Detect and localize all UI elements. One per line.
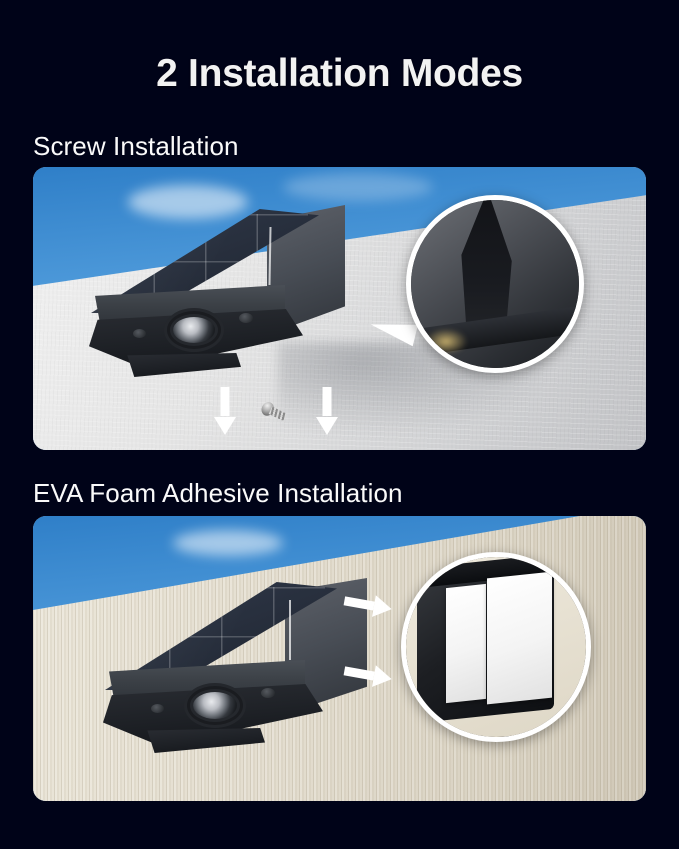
- housing-lower-lip: [145, 728, 265, 753]
- housing-port: [239, 313, 253, 323]
- housing-port: [151, 704, 164, 713]
- callout-eva-foam-pad-detail: [401, 552, 591, 742]
- pir-sensor-dome: [173, 317, 215, 343]
- photo-panel-screw-installation: [33, 167, 646, 450]
- housing-lower-lip: [125, 353, 241, 377]
- arrow-down-left-icon: [214, 387, 236, 435]
- scene-screw: [33, 167, 646, 450]
- solar-light-unit: [73, 187, 373, 407]
- arrow-down-right-icon: [316, 387, 338, 435]
- section-label-eva-foam-installation: EVA Foam Adhesive Installation: [33, 478, 403, 509]
- housing-port: [133, 329, 146, 338]
- page-title: 2 Installation Modes: [0, 52, 679, 96]
- cloud: [173, 530, 283, 556]
- callout-screw-mount-detail: [406, 195, 584, 373]
- housing-port: [261, 688, 275, 698]
- housing-edge-highlight: [289, 600, 291, 660]
- pir-sensor-dome: [193, 692, 237, 719]
- photo-panel-eva-foam-installation: [33, 516, 646, 801]
- scene-eva: [33, 516, 646, 801]
- section-label-screw-installation: Screw Installation: [33, 131, 239, 162]
